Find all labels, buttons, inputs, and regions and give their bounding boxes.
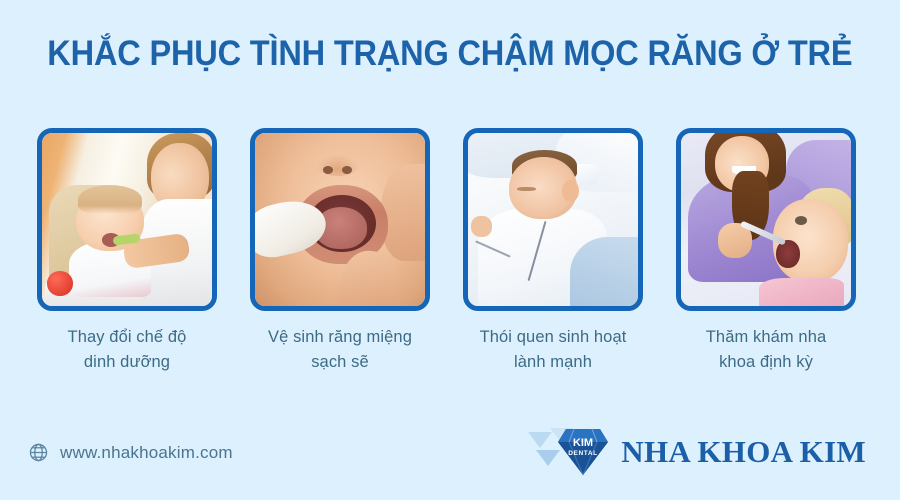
child-eye-shape	[795, 216, 807, 225]
caption-line-1: Thay đổi chế độ	[68, 328, 187, 346]
info-card-healthy-habits[interactable]: Thói quen sinh hoạt lành mạnh	[463, 128, 643, 375]
caption-line-1: Vệ sinh răng miệng	[268, 328, 412, 346]
brand-logo: KIM DENTAL NHA KHOA KIM	[526, 422, 866, 480]
photo-frame	[463, 128, 643, 311]
photo-frame	[676, 128, 856, 311]
card-row: Thay đổi chế độ dinh dưỡng Vệ sinh răng …	[37, 128, 863, 375]
logo-mark-top-text: KIM	[573, 437, 593, 449]
brand-wordmark: NHA KHOA KIM	[621, 436, 866, 467]
caption-line-2: dinh dưỡng	[84, 353, 170, 371]
photo-sleeping-baby	[468, 133, 638, 306]
photo-mother-feeding-baby	[42, 133, 212, 306]
page-header: KHẮC PHỤC TÌNH TRẠNG CHẬM MỌC RĂNG Ở TRẺ	[0, 33, 900, 75]
logo-mark-bottom-text: DENTAL	[569, 450, 598, 457]
nostril-left-shape	[323, 166, 333, 174]
info-card-nutrition[interactable]: Thay đổi chế độ dinh dưỡng	[37, 128, 217, 375]
card-caption: Thăm khám nha khoa định kỳ	[676, 325, 856, 375]
caption-line-2: sạch sẽ	[311, 353, 369, 371]
blanket-shape	[570, 237, 638, 306]
globe-icon	[28, 442, 49, 463]
caption-line-1: Thói quen sinh hoạt	[480, 328, 627, 346]
photo-frame	[250, 128, 430, 311]
red-ball-shape	[47, 271, 73, 295]
nostril-right-shape	[342, 166, 352, 174]
hand-shape	[381, 164, 425, 261]
page-title: KHẮC PHỤC TÌNH TRẠNG CHẬM MỌC RĂNG Ở TRẺ	[47, 33, 852, 75]
kim-dental-diamond-icon: KIM DENTAL	[526, 422, 612, 480]
caption-line-2: khoa định kỳ	[719, 353, 813, 371]
card-caption: Thay đổi chế độ dinh dưỡng	[37, 325, 217, 375]
card-caption: Vệ sinh răng miệng sạch sẽ	[250, 325, 430, 375]
baby-hand-shape	[471, 216, 491, 237]
info-card-dental-checkup[interactable]: Thăm khám nha khoa định kỳ	[676, 128, 856, 375]
website-url-text: www.nhakhoakim.com	[60, 443, 233, 463]
photo-cleaning-baby-gums	[255, 133, 425, 306]
baby-ear-shape	[562, 180, 579, 202]
card-caption: Thói quen sinh hoạt lành mạnh	[463, 325, 643, 375]
nose-shape	[316, 154, 360, 176]
child-mouth-shape	[776, 240, 800, 268]
caption-line-1: Thăm khám nha	[706, 328, 827, 346]
info-card-oral-hygiene[interactable]: Vệ sinh răng miệng sạch sẽ	[250, 128, 430, 375]
caption-line-2: lành mạnh	[514, 353, 592, 371]
photo-dentist-examining-child	[681, 133, 851, 306]
photo-frame	[37, 128, 217, 311]
website-link[interactable]: www.nhakhoakim.com	[28, 442, 233, 463]
baby-hair-shape	[78, 185, 143, 214]
child-bib-shape	[759, 278, 844, 306]
baby-eye-shape	[517, 187, 536, 191]
